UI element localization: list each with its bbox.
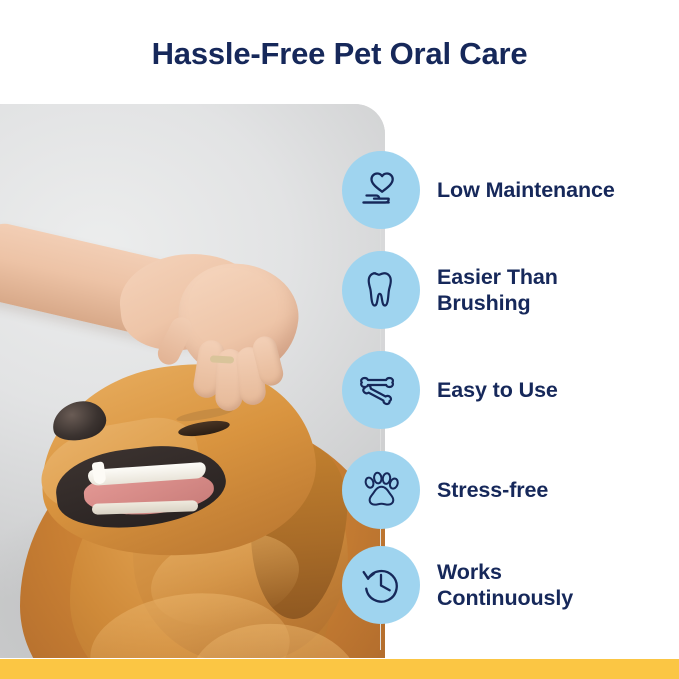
feature-item-stress-free: Stress-free [342,440,679,540]
crossed-bones-icon [342,351,420,429]
feature-label: Works Continuously [437,559,627,611]
finger-ring [210,355,234,363]
clock-rotate-icon [342,546,420,624]
product-feature-infographic: Hassle-Free Pet Oral Care [0,0,679,679]
feature-list: Low Maintenance Easier Than Brushing [342,140,679,630]
feature-item-easier-than-brushing: Easier Than Brushing [342,240,679,340]
bottom-accent-band [0,659,679,679]
feature-label: Low Maintenance [437,177,615,203]
feature-item-works-continuously: Works Continuously [342,540,679,630]
hand-holding-heart-icon [342,151,420,229]
feature-item-low-maintenance: Low Maintenance [342,140,679,240]
feature-label: Easy to Use [437,377,558,403]
product-photo [0,104,385,658]
page-title: Hassle-Free Pet Oral Care [0,36,679,72]
feature-label: Stress-free [437,477,548,503]
paw-print-icon [342,451,420,529]
tooth-icon [342,251,420,329]
feature-item-easy-to-use: Easy to Use [342,340,679,440]
feature-label: Easier Than Brushing [437,264,627,316]
